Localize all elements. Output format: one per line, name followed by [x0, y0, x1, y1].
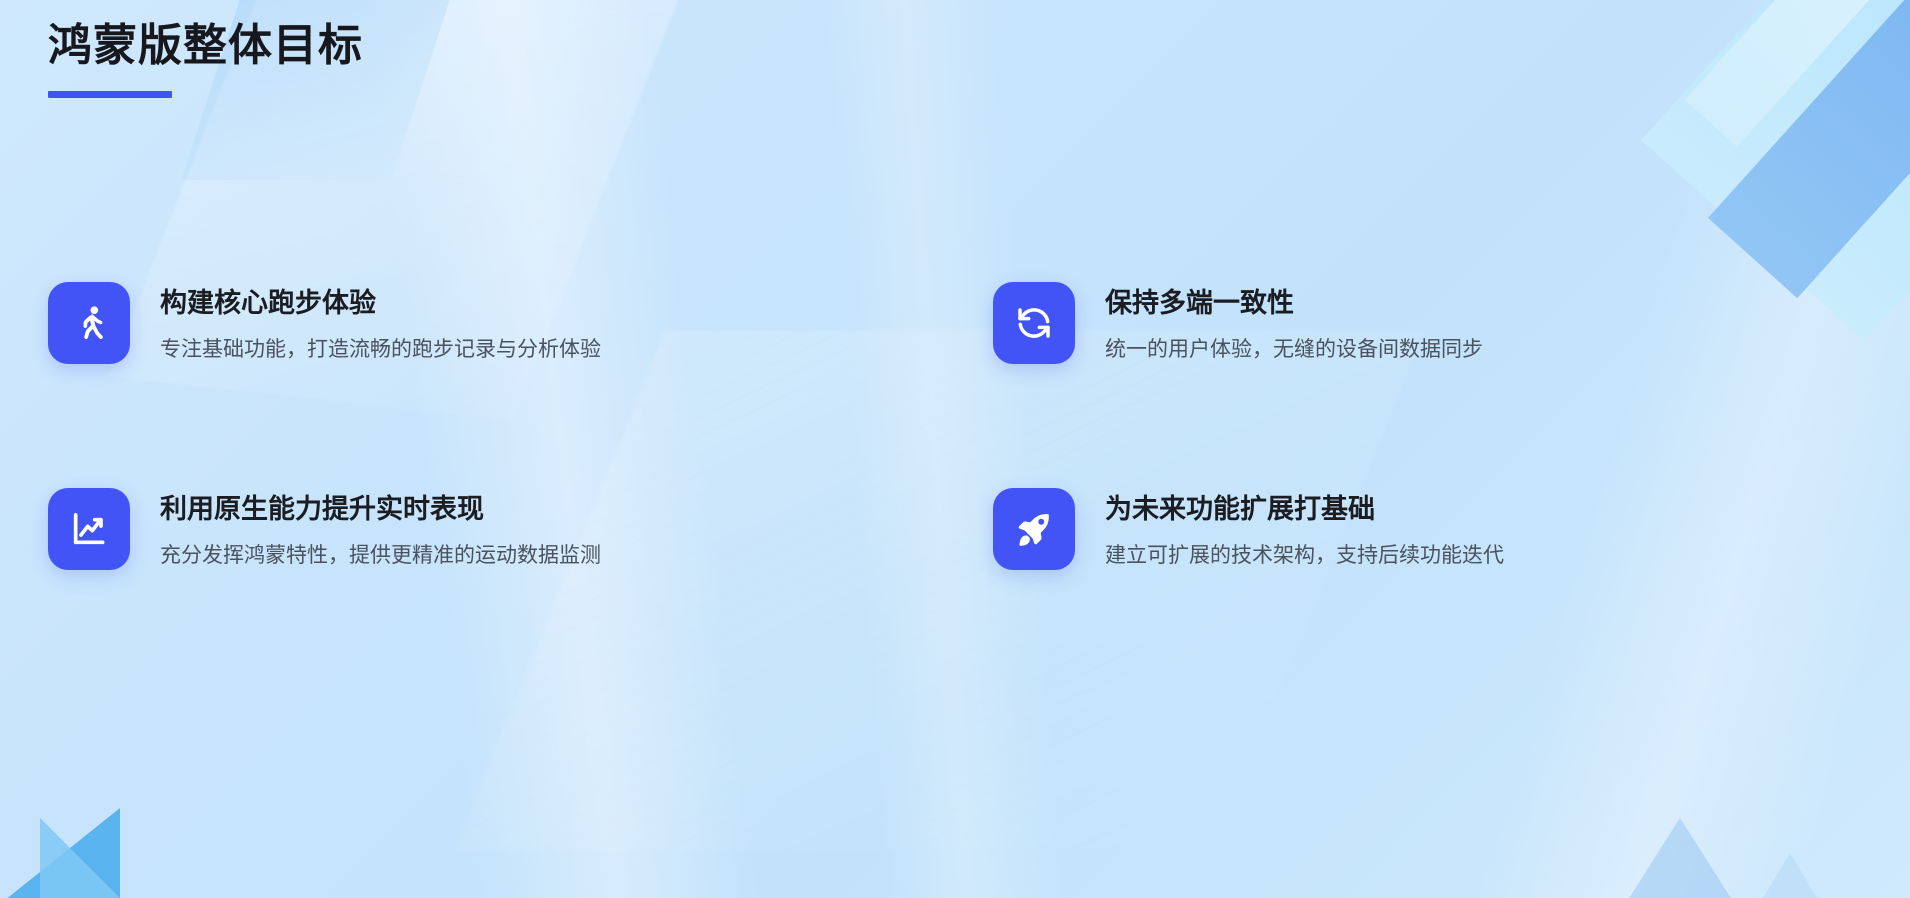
goal-card-text: 构建核心跑步体验 专注基础功能，打造流畅的跑步记录与分析体验 — [160, 282, 601, 366]
sync-refresh-icon — [1014, 303, 1054, 343]
page-title: 鸿蒙版整体目标 — [48, 18, 363, 73]
goal-card: 构建核心跑步体验 专注基础功能，打造流畅的跑步记录与分析体验 — [48, 282, 803, 366]
goal-card-description: 建立可扩展的技术架构，支持后续功能迭代 — [1105, 541, 1504, 571]
corner-triangle-shape — [0, 808, 120, 898]
goal-icon-tile — [993, 488, 1075, 570]
goal-card-title: 为未来功能扩展打基础 — [1105, 492, 1504, 527]
goal-card-text: 为未来功能扩展打基础 建立可扩展的技术架构，支持后续功能迭代 — [1105, 488, 1504, 572]
page-header: 鸿蒙版整体目标 — [48, 18, 363, 98]
goal-card-title: 构建核心跑步体验 — [160, 286, 601, 321]
corner-triangle-shape — [1730, 853, 1850, 898]
goal-card-title: 保持多端一致性 — [1105, 286, 1483, 321]
running-person-icon — [69, 303, 109, 343]
goal-card: 保持多端一致性 统一的用户体验，无缝的设备间数据同步 — [993, 282, 1748, 366]
goal-card-text: 利用原生能力提升实时表现 充分发挥鸿蒙特性，提供更精准的运动数据监测 — [160, 488, 601, 572]
diagonal-band-shape — [1685, 0, 1910, 147]
line-chart-icon — [69, 509, 109, 549]
goal-icon-tile — [48, 488, 130, 570]
goal-icon-tile — [48, 282, 130, 364]
goal-card: 为未来功能扩展打基础 建立可扩展的技术架构，支持后续功能迭代 — [993, 488, 1748, 572]
goal-card-description: 充分发挥鸿蒙特性，提供更精准的运动数据监测 — [160, 541, 601, 571]
goal-card: 利用原生能力提升实时表现 充分发挥鸿蒙特性，提供更精准的运动数据监测 — [48, 488, 803, 572]
goal-card-description: 专注基础功能，打造流畅的跑步记录与分析体验 — [160, 335, 601, 365]
corner-triangle-shape — [40, 818, 160, 898]
rocket-icon — [1014, 509, 1054, 549]
diagonal-band-shape — [1708, 0, 1910, 298]
title-underline-rule — [48, 91, 172, 98]
goal-card-text: 保持多端一致性 统一的用户体验，无缝的设备间数据同步 — [1105, 282, 1483, 366]
goals-grid: 构建核心跑步体验 专注基础功能，打造流畅的跑步记录与分析体验 保持多端一致性 统… — [48, 282, 1748, 571]
corner-triangle-shape — [1610, 818, 1750, 898]
goal-icon-tile — [993, 282, 1075, 364]
goal-card-description: 统一的用户体验，无缝的设备间数据同步 — [1105, 335, 1483, 365]
goal-card-title: 利用原生能力提升实时表现 — [160, 492, 601, 527]
